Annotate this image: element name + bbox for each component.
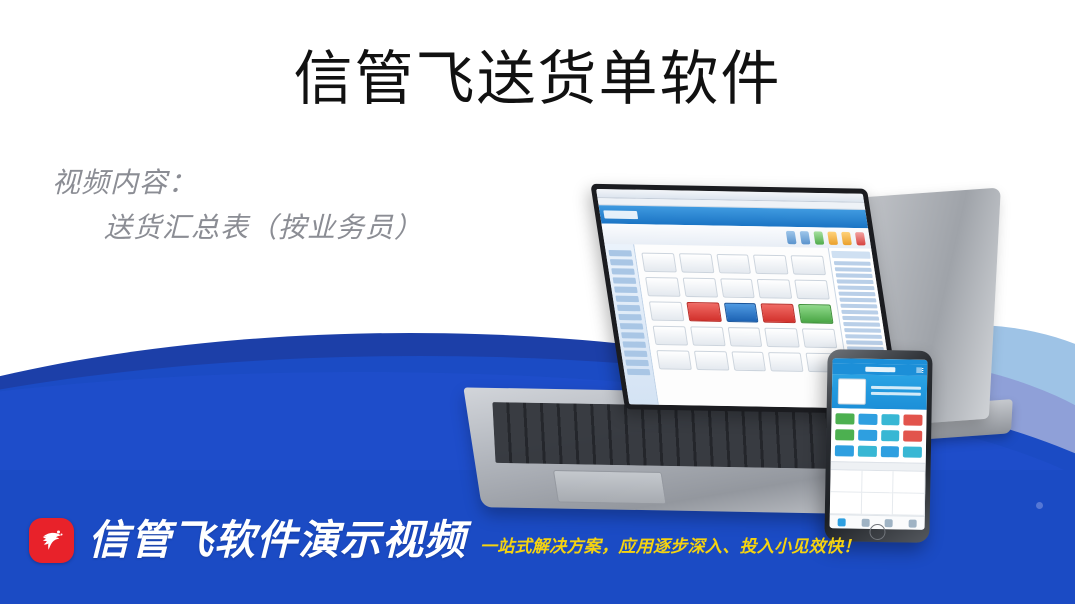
hamburger-menu-icon (916, 368, 923, 373)
xinguanfei-bird-logo-icon (29, 518, 74, 563)
toolbar-icon-5 (841, 232, 852, 245)
banner-tagline: 一站式解决方案，应用逐步深入、投入小见效快！ (480, 538, 861, 555)
bottom-banner: 信管飞软件演示视频 一站式解决方案，应用逐步深入、投入小见效快！ (0, 510, 1075, 570)
device-illustration (470, 180, 1075, 530)
page-title: 信管飞送货单软件 (0, 46, 1075, 112)
phone-banner-card (832, 374, 928, 410)
toolbar-icon-2 (800, 231, 811, 244)
video-content-value: 送货汇总表（按业务员） (52, 205, 423, 250)
toolbar-icon-4 (827, 232, 838, 245)
phone-banner-image (838, 378, 866, 404)
video-content-label: 视频内容： (52, 167, 197, 198)
phone-screen (830, 358, 928, 530)
phone-stats-grid (830, 470, 926, 516)
phone-icon-grid (831, 408, 927, 463)
banner-title: 信管飞软件演示视频 (88, 520, 466, 561)
laptop-trackpad (553, 470, 667, 504)
toolbar-icon-6 (855, 232, 866, 245)
toolbar-icon-1 (786, 231, 797, 244)
phone-app-title (865, 367, 895, 373)
app-icon-grid (634, 244, 852, 408)
app-brand-logo (603, 210, 638, 219)
presentation-slide: 信管飞送货单软件 视频内容： 送货汇总表（按业务员） 信管飞软件演示视频 一站式… (0, 0, 1075, 604)
video-content-block: 视频内容： 送货汇总表（按业务员） (52, 160, 423, 251)
phone-app-header (832, 363, 927, 376)
phone-banner-text (871, 386, 921, 399)
toolbar-icon-3 (813, 231, 824, 244)
